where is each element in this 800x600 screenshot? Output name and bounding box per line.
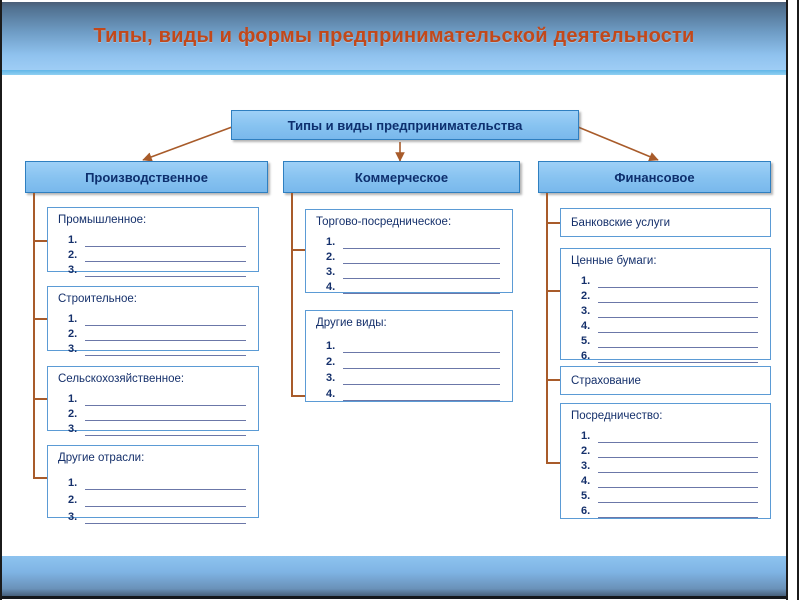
write-in-line[interactable]: [598, 476, 758, 488]
line-number: 2.: [581, 290, 598, 303]
write-in-line[interactable]: [85, 314, 246, 326]
line-number: 6.: [581, 505, 598, 518]
blank-line-row[interactable]: 3.: [581, 458, 762, 473]
write-in-line[interactable]: [343, 252, 500, 264]
arrow-to-production: [143, 127, 232, 160]
frame-outer-border: [797, 0, 799, 600]
blank-lines-securities: 1. 2. 3. 4. 5. 6.: [581, 273, 762, 363]
blank-line-row[interactable]: 1.: [581, 428, 762, 443]
blank-lines-trade-intermediary: 1. 2. 3. 4.: [326, 234, 504, 294]
line-number: 3.: [326, 266, 343, 279]
blank-lines-construction: 1. 2. 3.: [68, 311, 250, 356]
line-number: 1.: [581, 275, 598, 288]
root-node-label: Типы и виды предпринимательства: [288, 118, 523, 133]
connector-branch-financial-2: [546, 290, 560, 292]
page-title: Типы, виды и формы предпринимательской д…: [2, 2, 786, 70]
line-number: 1.: [581, 430, 598, 443]
blank-line-row[interactable]: 3.: [326, 369, 504, 385]
line-number: 3.: [581, 305, 598, 318]
write-in-line[interactable]: [85, 265, 246, 277]
detail-box-other-industries[interactable]: Другие отрасли: 1. 2. 3.: [47, 445, 259, 518]
line-number: 3.: [68, 343, 85, 356]
blank-line-row[interactable]: 4.: [581, 318, 762, 333]
connector-branch-financial-3: [546, 379, 560, 381]
write-in-line[interactable]: [85, 329, 246, 341]
detail-box-banking-services-title: Банковские услуги: [571, 217, 670, 229]
detail-box-industrial-title: Промышленное:: [58, 214, 146, 226]
blank-line-row[interactable]: 2.: [326, 249, 504, 264]
write-in-line[interactable]: [598, 321, 758, 333]
slide-canvas: Типы, виды и формы предпринимательской д…: [0, 0, 800, 600]
write-in-line[interactable]: [598, 291, 758, 303]
connector-spine-financial: [546, 193, 548, 463]
blank-line-row[interactable]: 2.: [581, 443, 762, 458]
line-number: 1.: [68, 477, 85, 490]
detail-box-intermediation[interactable]: Посредничество: 1. 2. 3. 4. 5. 6.: [560, 403, 771, 519]
write-in-line[interactable]: [343, 373, 500, 385]
line-number: 2.: [68, 328, 85, 341]
blank-line-row[interactable]: 4.: [326, 279, 504, 294]
line-number: 5.: [581, 335, 598, 348]
header-accent-line: [2, 70, 786, 75]
blank-line-row[interactable]: 1.: [68, 311, 250, 326]
write-in-line[interactable]: [85, 512, 246, 524]
write-in-line[interactable]: [85, 235, 246, 247]
write-in-line[interactable]: [85, 394, 246, 406]
detail-box-industrial[interactable]: Промышленное: 1. 2. 3.: [47, 207, 259, 272]
category-production[interactable]: Производственное: [25, 161, 268, 193]
blank-lines-other-kinds: 1. 2. 3. 4.: [326, 337, 504, 401]
blank-line-row[interactable]: 1.: [68, 391, 250, 406]
line-number: 2.: [68, 494, 85, 507]
blank-line-row[interactable]: 1.: [581, 273, 762, 288]
connector-branch-financial-1: [546, 222, 560, 224]
blank-line-row[interactable]: 3.: [68, 507, 250, 524]
write-in-line[interactable]: [85, 409, 246, 421]
connector-branch-production-2: [33, 318, 47, 320]
blank-line-row[interactable]: 6.: [581, 348, 762, 363]
write-in-line[interactable]: [598, 446, 758, 458]
blank-lines-agricultural: 1. 2. 3.: [68, 391, 250, 436]
line-number: 2.: [326, 251, 343, 264]
header-band: Типы, виды и формы предпринимательской д…: [2, 2, 786, 70]
line-number: 4.: [581, 475, 598, 488]
write-in-line[interactable]: [598, 276, 758, 288]
write-in-line[interactable]: [343, 389, 500, 401]
write-in-line[interactable]: [85, 478, 246, 490]
blank-line-row[interactable]: 2.: [326, 353, 504, 369]
connector-branch-financial-4: [546, 462, 560, 464]
blank-lines-industrial: 1. 2. 3.: [68, 232, 250, 277]
line-number: 4.: [326, 281, 343, 294]
category-commercial-label: Коммерческое: [355, 170, 448, 185]
blank-lines-intermediation: 1. 2. 3. 4. 5. 6.: [581, 428, 762, 518]
connector-branch-production-3: [33, 398, 47, 400]
line-number: 6.: [581, 350, 598, 363]
blank-line-row[interactable]: 5.: [581, 488, 762, 503]
line-number: 4.: [326, 388, 343, 401]
line-number: 2.: [68, 408, 85, 421]
line-number: 2.: [581, 445, 598, 458]
blank-line-row[interactable]: 1.: [68, 473, 250, 490]
blank-line-row[interactable]: 3.: [581, 303, 762, 318]
line-number: 2.: [68, 249, 85, 262]
line-number: 3.: [68, 423, 85, 436]
write-in-line[interactable]: [343, 341, 500, 353]
category-production-label: Производственное: [85, 170, 208, 185]
detail-box-insurance[interactable]: Страхование: [560, 366, 771, 395]
write-in-line[interactable]: [598, 431, 758, 443]
line-number: 1.: [68, 313, 85, 326]
connector-branch-production-1: [33, 240, 47, 242]
connector-branch-commercial-2: [291, 395, 305, 397]
write-in-line[interactable]: [598, 336, 758, 348]
blank-line-row[interactable]: 1.: [68, 232, 250, 247]
line-number: 1.: [68, 234, 85, 247]
blank-line-row[interactable]: 6.: [581, 503, 762, 518]
detail-box-other-industries-title: Другие отрасли:: [58, 452, 144, 464]
line-number: 3.: [581, 460, 598, 473]
detail-box-other-kinds[interactable]: Другие виды: 1. 2. 3. 4.: [305, 310, 513, 402]
blank-line-row[interactable]: 3.: [68, 262, 250, 277]
blank-line-row[interactable]: 3.: [68, 421, 250, 436]
detail-box-trade-intermediary-title: Торгово-посредническое:: [316, 216, 451, 228]
blank-line-row[interactable]: 1.: [326, 337, 504, 353]
write-in-line[interactable]: [85, 424, 246, 436]
blank-line-row[interactable]: 3.: [68, 341, 250, 356]
write-in-line[interactable]: [343, 237, 500, 249]
footer-bottom-border: [2, 596, 786, 599]
blank-line-row[interactable]: 5.: [581, 333, 762, 348]
blank-line-row[interactable]: 3.: [326, 264, 504, 279]
write-in-line[interactable]: [598, 306, 758, 318]
detail-box-construction-title: Строительное:: [58, 293, 137, 305]
line-number: 1.: [68, 393, 85, 406]
detail-box-agricultural-title: Сельскохозяйственное:: [58, 373, 184, 385]
root-node-types-and-kinds[interactable]: Типы и виды предпринимательства: [231, 110, 579, 140]
detail-box-agricultural[interactable]: Сельскохозяйственное: 1. 2. 3.: [47, 366, 259, 431]
write-in-line[interactable]: [598, 491, 758, 503]
connector-spine-production: [33, 193, 35, 477]
detail-box-other-kinds-title: Другие виды:: [316, 317, 387, 329]
line-number: 3.: [68, 264, 85, 277]
detail-box-securities[interactable]: Ценные бумаги: 1. 2. 3. 4. 5. 6.: [560, 248, 771, 360]
line-number: 4.: [581, 320, 598, 333]
blank-line-row[interactable]: 2.: [68, 326, 250, 341]
write-in-line[interactable]: [85, 344, 246, 356]
connector-branch-commercial-1: [291, 249, 305, 251]
category-commercial[interactable]: Коммерческое: [283, 161, 520, 193]
line-number: 5.: [581, 490, 598, 503]
line-number: 2.: [326, 356, 343, 369]
write-in-line[interactable]: [343, 282, 500, 294]
connector-branch-production-4: [33, 477, 47, 479]
detail-box-intermediation-title: Посредничество:: [571, 410, 662, 422]
detail-box-construction[interactable]: Строительное: 1. 2. 3.: [47, 286, 259, 351]
line-number: 1.: [326, 236, 343, 249]
write-in-line[interactable]: [598, 461, 758, 473]
line-number: 3.: [326, 372, 343, 385]
category-financial[interactable]: Финансовое: [538, 161, 771, 193]
write-in-line[interactable]: [85, 495, 246, 507]
connector-spine-commercial: [291, 193, 293, 396]
detail-box-trade-intermediary[interactable]: Торгово-посредническое: 1. 2. 3. 4.: [305, 209, 513, 293]
write-in-line[interactable]: [343, 267, 500, 279]
blank-line-row[interactable]: 2.: [68, 490, 250, 507]
blank-line-row[interactable]: 2.: [68, 247, 250, 262]
blank-lines-other-industries: 1. 2. 3.: [68, 473, 250, 524]
detail-box-insurance-title: Страхование: [571, 375, 641, 387]
write-in-line[interactable]: [343, 357, 500, 369]
frame-right-border: [786, 0, 788, 600]
write-in-line[interactable]: [598, 506, 758, 518]
blank-line-row[interactable]: 4.: [581, 473, 762, 488]
line-number: 1.: [326, 340, 343, 353]
write-in-line[interactable]: [598, 351, 758, 363]
frame-left-border: [0, 0, 2, 600]
blank-line-row[interactable]: 1.: [326, 234, 504, 249]
line-number: 3.: [68, 511, 85, 524]
blank-line-row[interactable]: 2.: [581, 288, 762, 303]
detail-box-banking-services[interactable]: Банковские услуги: [560, 208, 771, 237]
blank-line-row[interactable]: 2.: [68, 406, 250, 421]
detail-box-securities-title: Ценные бумаги:: [571, 255, 657, 267]
write-in-line[interactable]: [85, 250, 246, 262]
blank-line-row[interactable]: 4.: [326, 385, 504, 401]
footer-band: [2, 556, 786, 598]
arrow-to-financial: [578, 127, 658, 160]
category-financial-label: Финансовое: [614, 170, 694, 185]
